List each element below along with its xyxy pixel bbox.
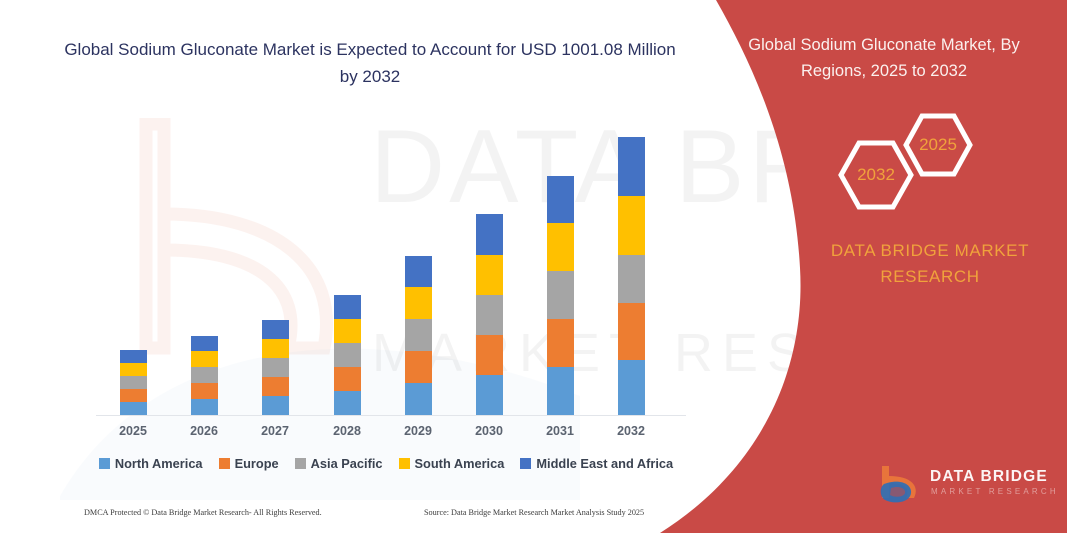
bar-segment-2031-s4 [547,176,574,223]
legend-label: Middle East and Africa [536,456,673,471]
legend-swatch-icon [99,458,110,469]
data-bridge-logo: DATA BRIDGE MARKET RESEARCH [878,462,1050,510]
bar-segment-2030-s4 [476,214,503,255]
bar-segment-2032-s2 [618,255,645,303]
logo-name: DATA BRIDGE [930,468,1048,486]
logo-subtitle: MARKET RESEARCH [931,487,1059,496]
legend-item-1[interactable]: Europe [219,456,279,471]
bar-segment-2027-s1 [262,377,289,396]
x-axis-label-2025: 2025 [103,424,163,438]
bar-segment-2025-s3 [120,363,147,376]
bar-segment-2027-s0 [262,396,289,415]
bar-segment-2032-s1 [618,303,645,360]
legend-item-3[interactable]: South America [399,456,505,471]
x-axis-label-2030: 2030 [459,424,519,438]
legend-swatch-icon [295,458,306,469]
bar-segment-2031-s1 [547,319,574,367]
bar-segment-2031-s3 [547,223,574,271]
bar-segment-2027-s2 [262,358,289,377]
bar-2028 [334,295,361,415]
bar-segment-2032-s3 [618,196,645,255]
bar-segment-2028-s3 [334,319,361,343]
bar-segment-2031-s0 [547,367,574,415]
panel-brand-text: DATA BRIDGE MARKET RESEARCH [790,238,1067,290]
bar-segment-2031-s2 [547,271,574,319]
bar-segment-2029-s3 [405,287,432,319]
legend-item-4[interactable]: Middle East and Africa [520,456,673,471]
x-axis-line [96,415,686,416]
bar-segment-2026-s0 [191,399,218,415]
legend-label: South America [415,456,505,471]
bar-segment-2028-s2 [334,343,361,367]
bar-segment-2027-s4 [262,320,289,339]
bar-2031 [547,176,574,415]
bar-segment-2030-s0 [476,375,503,415]
bar-segment-2025-s1 [120,389,147,402]
bar-2029 [405,256,432,415]
bar-segment-2032-s0 [618,360,645,415]
bar-segment-2025-s2 [120,376,147,389]
hexagon-2025: 2025 [903,112,973,178]
x-axis-label-2029: 2029 [388,424,448,438]
footer-copyright: DMCA Protected © Data Bridge Market Rese… [84,508,322,517]
bar-segment-2030-s2 [476,295,503,335]
x-axis-label-2026: 2026 [174,424,234,438]
bar-segment-2026-s2 [191,367,218,383]
bar-segment-2029-s4 [405,256,432,287]
legend-item-2[interactable]: Asia Pacific [295,456,383,471]
bar-segment-2025-s0 [120,402,147,415]
x-axis-label-2027: 2027 [245,424,305,438]
legend-swatch-icon [219,458,230,469]
bar-segment-2030-s1 [476,335,503,375]
bar-2025 [120,350,147,415]
bar-2027 [262,320,289,415]
chart-legend: North AmericaEuropeAsia PacificSouth Ame… [96,456,676,471]
hexagon-2025-label: 2025 [919,135,957,155]
x-axis-label-2028: 2028 [317,424,377,438]
bar-segment-2032-s4 [618,137,645,196]
hexagon-2032-label: 2032 [857,165,895,185]
legend-item-0[interactable]: North America [99,456,203,471]
x-axis-label-2032: 2032 [601,424,661,438]
bar-segment-2028-s4 [334,295,361,319]
bar-segment-2029-s2 [405,319,432,351]
bar-2032 [618,137,645,415]
bar-segment-2025-s4 [120,350,147,363]
x-axis-label-2031: 2031 [530,424,590,438]
bar-segment-2027-s3 [262,339,289,358]
bar-segment-2026-s1 [191,383,218,399]
chart-plot-area: 20252026202720282029203020312032 North A… [0,0,700,533]
bar-segment-2028-s1 [334,367,361,391]
footer-source: Source: Data Bridge Market Research Mark… [424,508,644,517]
bar-segment-2029-s1 [405,351,432,383]
legend-swatch-icon [520,458,531,469]
legend-label: North America [115,456,203,471]
data-bridge-mark-icon [878,464,924,506]
bar-segment-2028-s0 [334,391,361,415]
infographic-canvas: DATA BRIDGE MARKET RESEARCH Global Sodiu… [0,0,1067,533]
bar-segment-2030-s3 [476,255,503,295]
legend-label: Europe [235,456,279,471]
bar-2030 [476,214,503,415]
bar-2026 [191,336,218,415]
legend-label: Asia Pacific [311,456,383,471]
bar-segment-2029-s0 [405,383,432,415]
panel-title: Global Sodium Gluconate Market, By Regio… [714,32,1054,84]
bar-segment-2026-s4 [191,336,218,351]
bar-segment-2026-s3 [191,351,218,367]
legend-swatch-icon [399,458,410,469]
